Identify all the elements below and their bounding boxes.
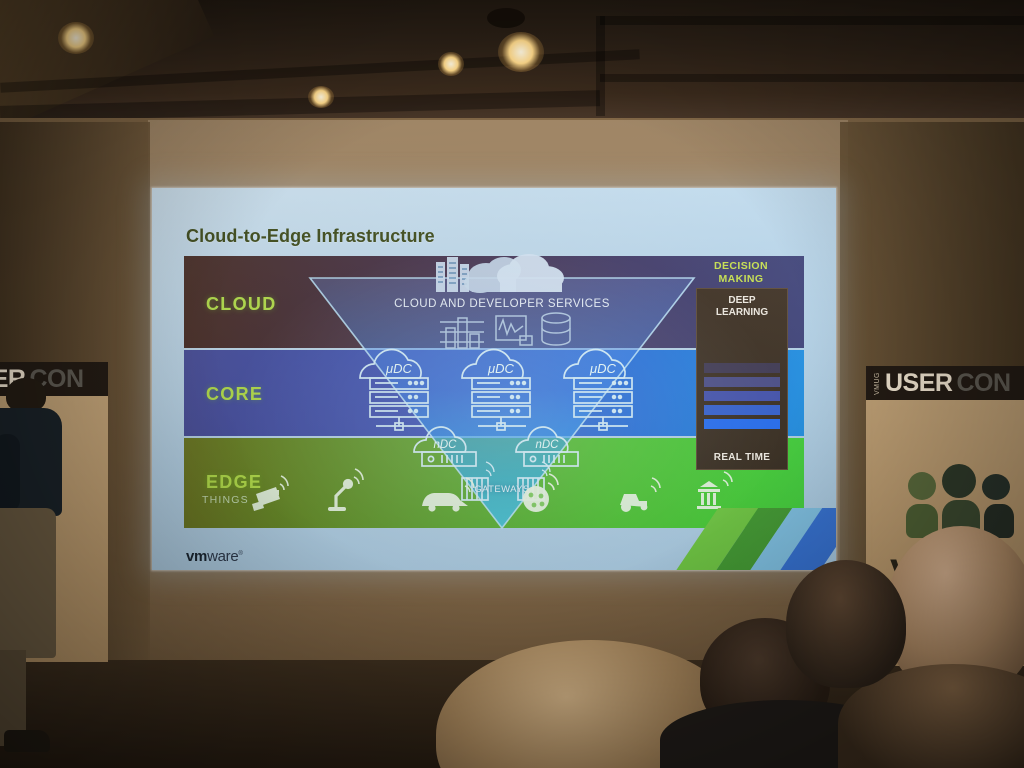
latency-bar-3	[704, 391, 780, 401]
banner-right-bar: VMUG USER CON	[866, 366, 1024, 400]
tractor-icon	[620, 478, 660, 512]
person-head	[6, 378, 46, 412]
deep-learning-label: DEEP LEARNING	[697, 295, 787, 319]
person-walking	[0, 378, 92, 768]
ceiling-spotlight-3	[438, 52, 464, 76]
vmware-logo: vmware®	[186, 548, 243, 565]
real-time-label: REAL TIME	[697, 452, 787, 463]
vmug-person-3	[982, 474, 1010, 500]
photo-scene: USER CON G VMUG USER CON VMUG VMWARE USE…	[0, 0, 1024, 768]
slide-corner-decoration	[646, 508, 836, 570]
deep-learning-line1: DEEP	[728, 295, 755, 306]
person-arm	[0, 434, 20, 512]
decision-making-line1: DECISION	[714, 260, 768, 272]
latency-bar-2	[704, 377, 780, 387]
latency-bar-5	[704, 419, 780, 429]
vmug-person-1	[908, 472, 936, 500]
ceiling-beam-2	[600, 16, 1024, 25]
latency-bar-1	[704, 363, 780, 373]
projection-screen: Cloud-to-Edge Infrastructure CLOUD CORE …	[152, 188, 836, 570]
slide-title: Cloud-to-Edge Infrastructure	[186, 226, 435, 247]
sensor-icon	[523, 474, 558, 512]
person-shoe	[4, 730, 50, 752]
ceiling	[0, 0, 1024, 124]
vmware-logo-mark: ®	[238, 551, 242, 557]
ceiling-spotlight-2	[498, 32, 544, 72]
banner-right-vmug-small: VMUG	[874, 372, 881, 395]
ceiling-fixture-dark	[487, 8, 525, 28]
vmware-logo-bold: vm	[186, 548, 207, 565]
robot-arm-icon	[330, 481, 352, 510]
decision-making-line2: MAKING	[719, 273, 764, 285]
car-icon	[422, 478, 474, 512]
ceiling-spotlight-4	[308, 86, 334, 108]
banner-right-con-text: CON	[956, 369, 1010, 398]
camera-icon	[252, 476, 288, 511]
ceiling-beam-4	[600, 74, 1024, 82]
bank-icon	[697, 472, 732, 509]
vmug-person-2	[942, 464, 976, 498]
deep-learning-line2: LEARNING	[716, 307, 768, 318]
vmware-logo-light: ware	[207, 548, 238, 565]
person-legs	[0, 508, 56, 658]
ceiling-spotlight-1	[58, 22, 94, 54]
robot-signal-icon	[354, 477, 359, 484]
decision-making-panel: DEEP LEARNING REAL TIME	[696, 288, 788, 470]
cloud-to-edge-diagram: CLOUD CORE EDGE	[184, 256, 804, 528]
latency-bars	[704, 363, 780, 433]
banner-right-user-text: USER	[885, 369, 952, 398]
latency-bar-4	[704, 405, 780, 415]
decision-making-label: DECISION MAKING	[682, 260, 800, 286]
audience-head-far	[786, 560, 906, 688]
